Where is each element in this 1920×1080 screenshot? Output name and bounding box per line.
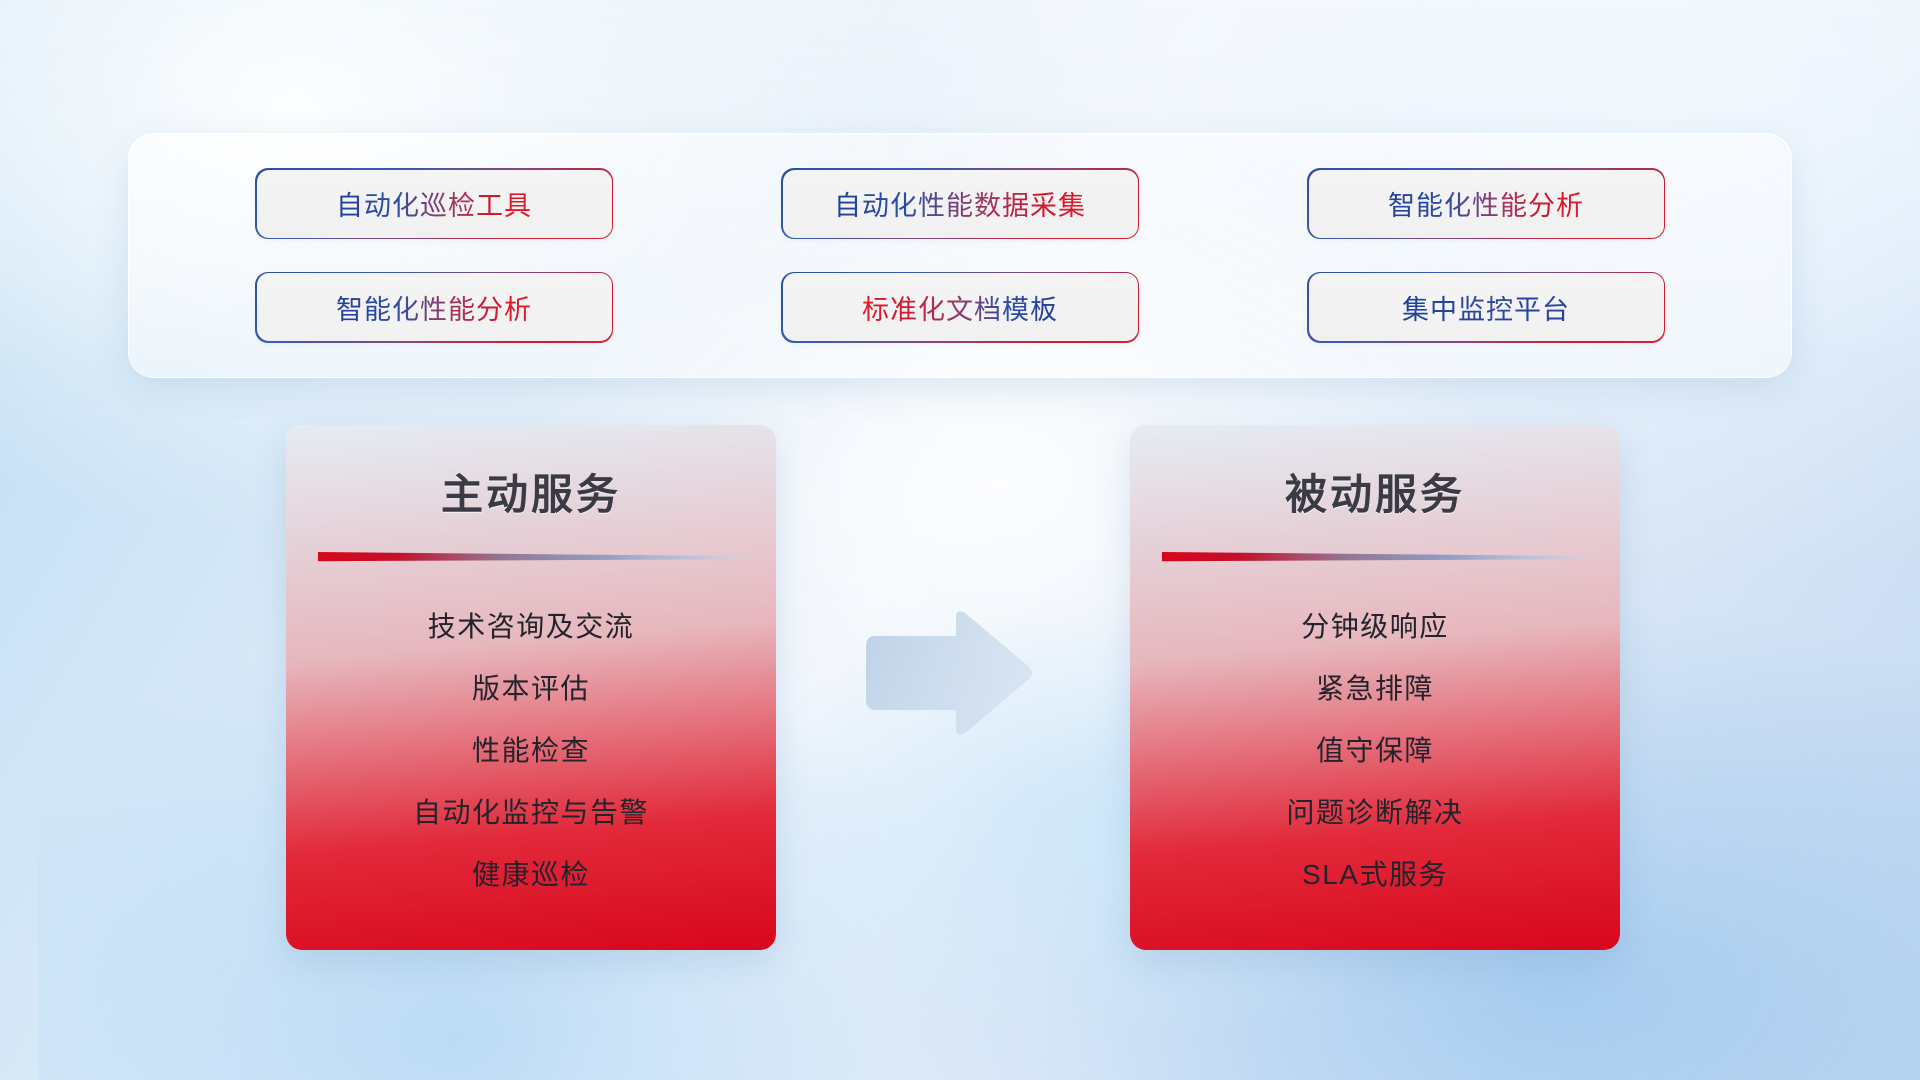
capability-pill-2-label: 自动化性能数据采集 [834,184,1086,223]
capability-pill-6[interactable]: 集中监控平台 [1309,273,1664,341]
capability-pill-6-label: 集中监控平台 [1402,288,1570,327]
capability-pill-5[interactable]: 标准化文档模板 [783,273,1138,341]
service-card-passive-divider [1162,550,1598,562]
service-item: 版本评估 [286,658,776,720]
capability-pill-4[interactable]: 智能化性能分析 [257,273,612,341]
service-item: 健康巡检 [286,844,776,906]
capability-pill-1-label: 自动化巡检工具 [336,184,532,223]
service-item: 自动化监控与告警 [286,782,776,844]
service-item: 性能检查 [286,720,776,782]
flow-arrow-icon [860,608,1035,738]
service-item: SLA式服务 [1130,844,1620,906]
service-card-active-title: 主动服务 [286,461,776,522]
service-card-active-list: 技术咨询及交流 版本评估 性能检查 自动化监控与告警 健康巡检 [286,596,776,906]
service-card-active: 主动服务 技术咨询及交流 版本评估 性能检查 [286,425,776,950]
service-item: 问题诊断解决 [1130,782,1620,844]
service-item: 值守保障 [1130,720,1620,782]
service-item: 分钟级响应 [1130,596,1620,658]
capability-pill-4-label: 智能化性能分析 [336,288,532,327]
capability-panel: 自动化巡检工具 自动化性能数据采集 智能化性能分析 智能化性能分析 标准化文档模… [128,133,1792,378]
capability-pill-1[interactable]: 自动化巡检工具 [257,170,612,238]
service-card-passive-divider-wrap [1130,544,1620,570]
service-card-passive: 被动服务 分钟级响应 紧急排障 值守保障 问 [1130,425,1620,950]
capability-pill-3-label: 智能化性能分析 [1388,184,1584,223]
service-card-active-divider-wrap [286,544,776,570]
service-item: 紧急排障 [1130,658,1620,720]
capability-pill-3[interactable]: 智能化性能分析 [1309,170,1664,238]
service-card-passive-title: 被动服务 [1130,461,1620,522]
service-card-passive-list: 分钟级响应 紧急排障 值守保障 问题诊断解决 SLA式服务 [1130,596,1620,906]
capability-pill-5-label: 标准化文档模板 [862,288,1058,327]
capability-pill-2[interactable]: 自动化性能数据采集 [783,170,1138,238]
service-item: 技术咨询及交流 [286,596,776,658]
service-card-active-divider [318,550,754,562]
